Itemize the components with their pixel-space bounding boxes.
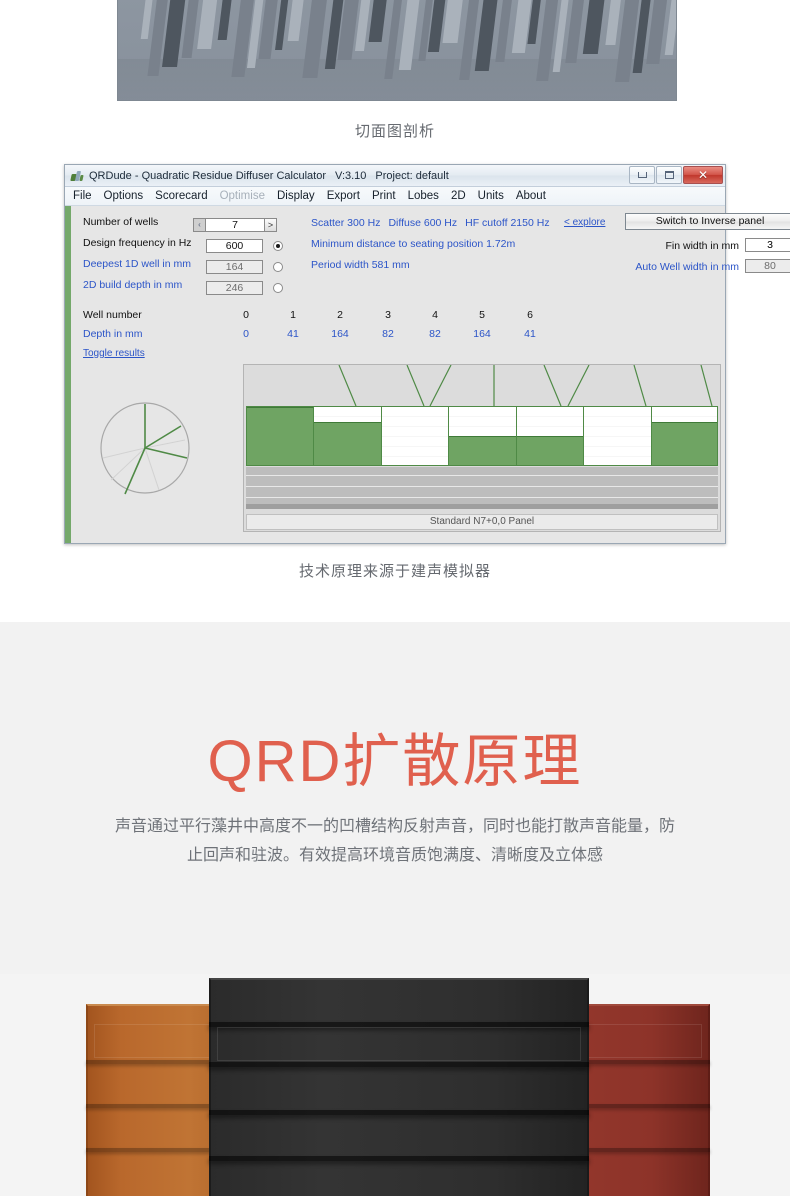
menu-item-scorecard[interactable]: Scorecard [155,190,207,202]
depth-cell: 0 [231,328,261,340]
close-icon: ✕ [698,169,708,181]
field-design-frequency: Design frequency in Hz [83,237,192,249]
well-column [448,406,515,466]
number-of-wells-input[interactable]: 7 [206,218,264,232]
qrdude-window: QRDude - Quadratic Residue Diffuser Calc… [64,164,726,544]
well-number-cell: 5 [467,309,497,321]
menu-item-file[interactable]: File [73,190,92,202]
depth-cell: 164 [325,328,355,340]
well-fill [652,422,717,466]
slab-1 [246,467,718,476]
fin-width-input[interactable]: 3 [745,238,790,252]
maximize-icon [665,171,674,179]
render-shadow [118,59,676,101]
acoustic-summary-line: Scatter 300 HzDiffuse 600 HzHF cutoff 21… [311,217,550,229]
well-fill [517,436,583,465]
menu-item-2d[interactable]: 2D [451,190,466,202]
deepest-well-label: Deepest 1D well in mm [83,258,191,270]
deepest-well-input[interactable]: 164 [206,260,263,274]
hero-section: QRD扩散原理 声音通过平行藻井中高度不一的凹槽结构反射声音，同时也能打散声音能… [0,622,790,974]
menu-item-units[interactable]: Units [478,190,504,202]
well-fill [449,436,515,465]
render-caption: 切面图剖析 [0,120,790,141]
well-column [583,406,650,466]
depth-cell: 41 [515,328,545,340]
hero-paragraph: 声音通过平行藻井中高度不一的凹槽结构反射声音，同时也能打散声音能量，防止回声和驻… [108,812,682,870]
well-number-cell: 3 [373,309,403,321]
design-frequency-input[interactable]: 600 [206,239,263,253]
minimize-icon [638,172,647,178]
slab-3 [246,487,718,498]
app-caption: 技术原理来源于建声模拟器 [0,560,790,581]
diffuser-fin [583,0,610,54]
results-table: Well number 0123456 Depth in mm 04116482… [83,308,713,364]
window-client-area: Number of wells ‹ 7 > Design frequency i… [65,206,725,543]
increment-wells-button[interactable]: > [264,218,277,232]
depth-cell: 82 [420,328,450,340]
well-column [246,406,313,466]
well-fill [247,407,313,465]
page-root: 切面图剖析 QRDude - Quadratic Residue Diffuse… [0,0,790,1196]
panel-base-bar [246,504,718,509]
minimize-button[interactable] [629,166,655,184]
well-fill [314,422,380,466]
close-button[interactable]: ✕ [683,166,723,184]
menu-item-optimise: Optimise [220,190,265,202]
fin-width-label: Fin width in mm [611,240,739,252]
menu-item-display[interactable]: Display [277,190,315,202]
depth-cell: 164 [467,328,497,340]
number-of-wells-label: Number of wells [83,216,158,228]
well-column [381,406,448,466]
panel-caption: Standard N7+0,0 Panel [246,514,718,530]
min-distance-text: Minimum distance to seating position 1.7… [311,238,515,250]
diffuser-fin [665,0,677,55]
radio-build-depth[interactable] [273,283,283,293]
diffuser-3d-render [117,0,677,101]
field-2d-build-depth: 2D build depth in mm [83,279,182,291]
field-number-of-wells: Number of wells [83,216,158,228]
panel-cross-section: Standard N7+0,0 Panel [243,364,721,532]
well-column [313,406,380,466]
menu-item-print[interactable]: Print [372,190,396,202]
product-photo [0,974,790,1196]
diffuser-fin [218,0,238,40]
menu-item-about[interactable]: About [516,190,546,202]
well-number-label: Well number [83,309,142,321]
decrement-wells-button[interactable]: ‹ [193,218,206,232]
well-number-cell: 6 [515,309,545,321]
menu-item-options[interactable]: Options [104,190,144,202]
shelf-unit-black [209,978,589,1196]
build-depth-input[interactable]: 246 [206,281,263,295]
radio-deepest-well[interactable] [273,262,283,272]
auto-well-width-input[interactable]: 80 [745,259,790,273]
hero-title: QRD扩散原理 [0,714,790,798]
visualisation-area: Standard N7+0,0 Panel [83,364,713,532]
polar-lobe-plot [97,400,193,496]
switch-to-inverse-panel-button[interactable]: Switch to Inverse panel [625,213,790,230]
well-number-cell: 2 [325,309,355,321]
menu-item-lobes[interactable]: Lobes [408,190,439,202]
well-number-cell: 0 [231,309,261,321]
depth-cell: 82 [373,328,403,340]
window-titlebar[interactable]: QRDude - Quadratic Residue Diffuser Calc… [65,165,725,187]
depth-label: Depth in mm [83,328,143,340]
window-title: QRDude - Quadratic Residue Diffuser Calc… [89,170,449,182]
maximize-button[interactable] [656,166,682,184]
parameters-form: Number of wells ‹ 7 > Design frequency i… [83,216,713,302]
auto-well-width-label: Auto Well width in mm [591,261,739,273]
depth-cell: 41 [278,328,308,340]
build-depth-label: 2D build depth in mm [83,279,182,291]
field-deepest-well: Deepest 1D well in mm [83,258,191,270]
toggle-results-link[interactable]: Toggle results [83,348,145,359]
well-number-cell: 4 [420,309,450,321]
table-row-well-number: Well number 0123456 [83,308,713,327]
menu-item-export[interactable]: Export [327,190,360,202]
explore-link[interactable]: < explore [564,217,605,228]
fin-rays-overlay [246,365,720,406]
slab-2 [246,476,718,487]
well-number-cell: 1 [278,309,308,321]
diffuser-fin [288,0,310,41]
menu-bar: FileOptionsScorecardOptimiseDisplayExpor… [65,187,725,206]
table-row-depth: Depth in mm 041164828216441 [83,327,713,346]
window-controls: ✕ [628,166,723,184]
period-width-text: Period width 581 mm [311,259,410,271]
app-icon [70,169,84,183]
design-frequency-label: Design frequency in Hz [83,237,192,249]
number-of-wells-stepper[interactable]: ‹ 7 > [193,218,277,232]
radio-design-frequency[interactable] [273,241,283,251]
well-column [651,406,718,466]
well-columns-group [246,406,718,466]
well-column [516,406,583,466]
